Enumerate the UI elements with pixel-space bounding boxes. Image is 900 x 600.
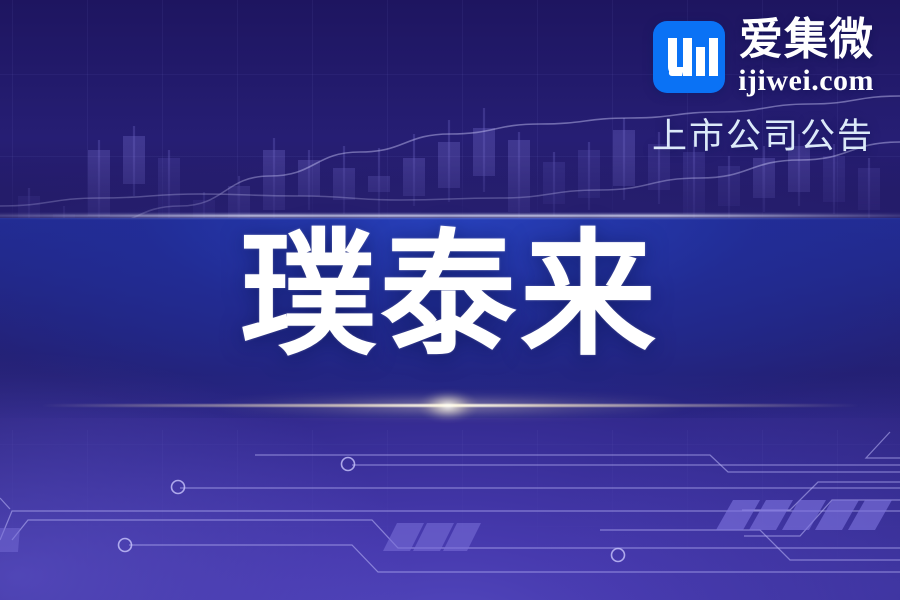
brand-domain: ijiwei.com <box>738 66 874 96</box>
page-title-wrapper: 璞泰来 <box>0 228 900 364</box>
brand-subtitle: 上市公司公告 <box>652 108 874 159</box>
brand-block: 爱集微 ijiwei.com 上市公司公告 <box>652 18 874 159</box>
brand-row: 爱集微 ijiwei.com <box>652 18 874 96</box>
logo-bar-one <box>683 38 692 76</box>
brand-name-cn: 爱集微 <box>738 18 874 62</box>
bar-chart-logo-icon <box>653 21 725 93</box>
page-title: 璞泰来 <box>240 228 660 364</box>
title-flare-core <box>410 386 486 426</box>
logo-bar-j <box>668 38 677 76</box>
logo-bar-two <box>696 47 705 76</box>
announcement-banner: 璞泰来 爱集微 ijiwei.com 上市公司公告 <box>0 0 900 600</box>
brand-names: 爱集微 ijiwei.com <box>738 18 874 96</box>
logo-bar-three <box>709 38 718 76</box>
